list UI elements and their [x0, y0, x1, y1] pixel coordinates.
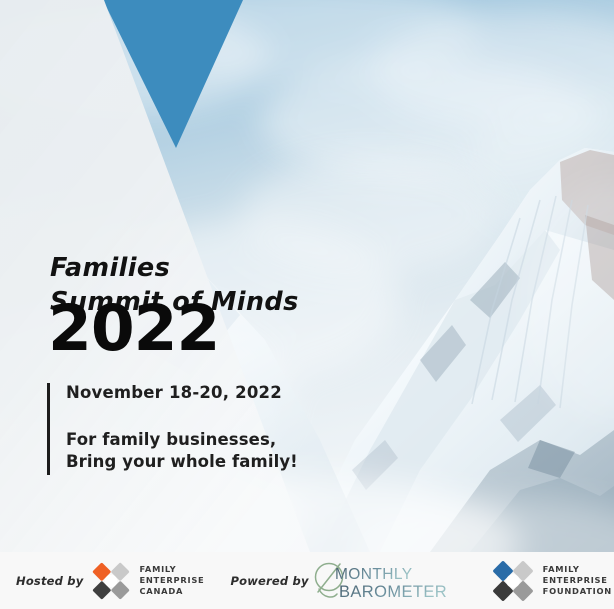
hosted-by-label: Hosted by [16, 574, 83, 588]
event-date: November 18-20, 2022 [66, 383, 298, 403]
family-enterprise-foundation-x-logo [489, 560, 537, 602]
event-poster: Families Summit of Minds 2022 November 1… [0, 0, 614, 609]
event-details-block: November 18-20, 2022 For family business… [47, 383, 298, 475]
hosted-by-group: Hosted by FAMILY ENTERPRISE CANADA [16, 561, 204, 601]
family-enterprise-foundation-group: FAMILY ENTERPRISE FOUNDATION [483, 560, 612, 602]
monthly-barometer-line2: BAROMETER [339, 583, 447, 601]
sponsor-footer: Hosted by FAMILY ENTERPRISE CANADA Power… [0, 552, 614, 609]
event-tagline: For family businesses, Bring your whole … [66, 429, 298, 473]
family-enterprise-canada-name: FAMILY ENTERPRISE CANADA [139, 564, 204, 597]
powered-by-group: Powered by MONTHLY BAROMETER [230, 559, 452, 603]
poster-copy: Families Summit of Minds 2022 November 1… [0, 0, 614, 552]
powered-by-label: Powered by [230, 574, 308, 588]
family-enterprise-canada-x-logo [89, 561, 133, 601]
monthly-barometer-circle-logo: MONTHLY BAROMETER [313, 559, 453, 603]
family-enterprise-foundation-name: FAMILY ENTERPRISE FOUNDATION [543, 564, 612, 597]
year-heading: 2022 [48, 297, 219, 360]
monthly-barometer-line1: MONTHLY [335, 566, 412, 583]
